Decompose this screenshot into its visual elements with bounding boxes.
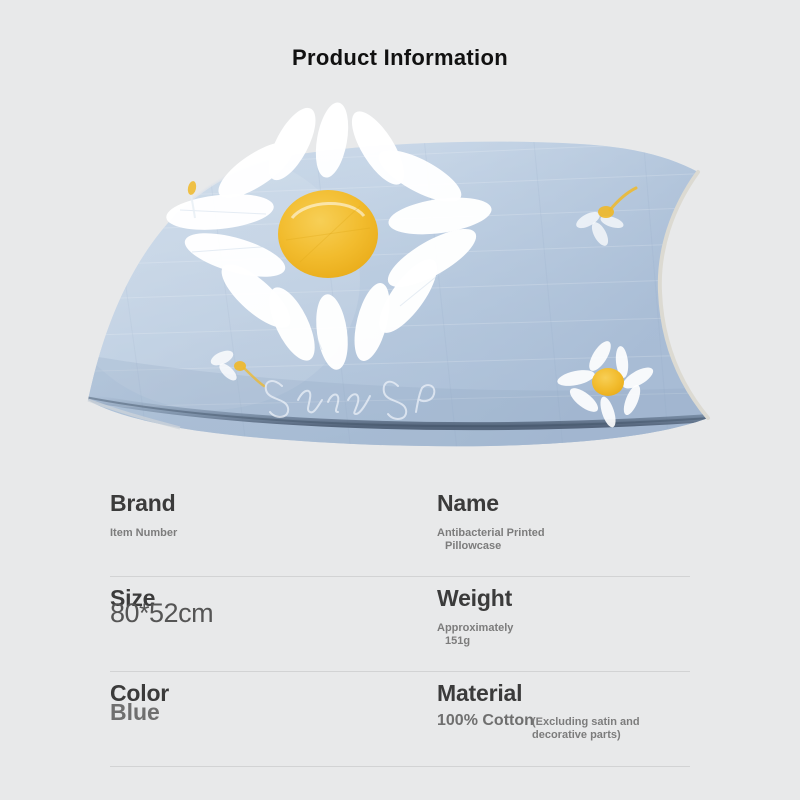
spec-cell-brand: Brand Item Number — [110, 482, 400, 576]
spec-cell-color: Color Blue — [110, 672, 400, 766]
spec-label-material: Material — [437, 680, 522, 707]
spec-cell-size: Size 80*52cm — [110, 577, 400, 671]
spec-value-weight-line1: Approximately — [437, 622, 513, 634]
spec-cell-material: Material 100% Cotton (Excluding satin an… — [400, 672, 690, 766]
spec-label-brand: Brand — [110, 490, 175, 517]
spec-cell-name: Name Antibacterial Printed Pillowcase — [400, 482, 690, 576]
page-title: Product Information — [0, 45, 800, 71]
spec-value-size: 80*52cm — [110, 607, 213, 620]
spec-value-name: Antibacterial Printed Pillowcase — [437, 527, 545, 553]
spec-value-brand: Item Number — [110, 527, 177, 540]
spec-row-brand-name: Brand Item Number Name Antibacterial Pri… — [110, 482, 690, 577]
product-image — [60, 100, 740, 460]
spec-value-weight: Approximately 151g — [437, 622, 513, 648]
spec-cell-weight: Weight Approximately 151g — [400, 577, 690, 671]
spec-row-color-material: Color Blue Material 100% Cotton (Excludi… — [110, 672, 690, 767]
spec-value-weight-line2: 151g — [445, 635, 513, 648]
spec-value-name-line2: Pillowcase — [445, 540, 545, 553]
spec-value-color: Blue — [110, 706, 160, 719]
spec-label-name: Name — [437, 490, 499, 517]
spec-table: Brand Item Number Name Antibacterial Pri… — [110, 482, 690, 767]
spec-note-material: (Excluding satin and decorative parts) — [532, 716, 682, 742]
spec-row-size-weight: Size 80*52cm Weight Approximately 151g — [110, 577, 690, 672]
spec-value-name-line1: Antibacterial Printed — [437, 527, 545, 539]
spec-value-material: 100% Cotton — [437, 714, 534, 727]
spec-label-weight: Weight — [437, 585, 512, 612]
